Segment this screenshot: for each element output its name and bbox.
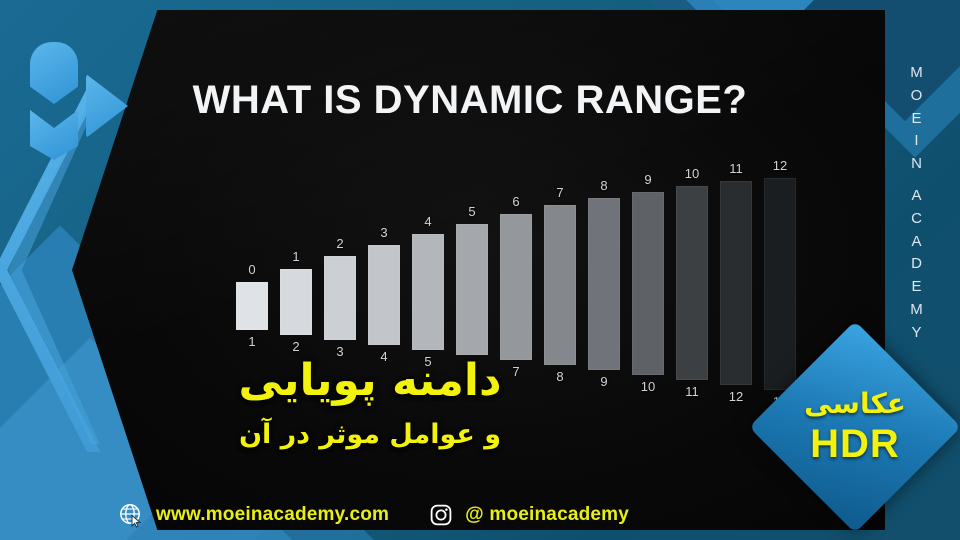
wedge-bar: [236, 282, 268, 330]
moein-academy-logo[interactable]: [22, 38, 132, 148]
wedge-bar: [368, 245, 400, 345]
wedge-bottom-label: 12: [720, 389, 752, 404]
wedge-top-label: 7: [544, 185, 576, 200]
brand-letter: O: [911, 85, 924, 108]
website-url[interactable]: www.moeinacademy.com: [156, 504, 389, 526]
wedge-step: 78: [544, 205, 576, 365]
instagram-handle[interactable]: @ moeinacademy: [465, 504, 629, 526]
wedge-bar: [456, 224, 488, 355]
badge-label-farsi: عکاسی: [804, 387, 906, 420]
wedge-step: 23: [324, 256, 356, 340]
wedge-bottom-label: 11: [676, 384, 708, 399]
wedge-bar: [280, 269, 312, 335]
page-title: WHAT IS DYNAMIC RANGE?: [120, 78, 820, 123]
brand-letter: A: [911, 231, 922, 254]
brand-letter: M: [910, 299, 924, 322]
wedge-step: 89: [588, 198, 620, 370]
wedge-top-label: 4: [412, 214, 444, 229]
wedge-bottom-label: 2: [280, 339, 312, 354]
brand-letter: I: [914, 130, 919, 153]
wedge-bar: [676, 186, 708, 380]
wedge-step: 01: [236, 282, 268, 330]
hdr-badge[interactable]: عکاسی HDR: [780, 352, 930, 502]
wedge-bottom-label: 1: [236, 334, 268, 349]
wedge-top-label: 2: [324, 236, 356, 251]
wedge-bar: [720, 181, 752, 385]
wedge-bar: [324, 256, 356, 340]
wedge-top-label: 10: [676, 166, 708, 181]
wedge-bar: [588, 198, 620, 370]
wedge-top-label: 12: [764, 158, 796, 173]
wedge-step: 56: [456, 224, 488, 355]
wedge-bottom-label: 10: [632, 379, 664, 394]
wedge-top-label: 6: [500, 194, 532, 209]
wedge-bar: [632, 192, 664, 375]
badge-text-wrap: عکاسی HDR: [780, 352, 930, 502]
wedge-step: 67: [500, 214, 532, 360]
wedge-step: 45: [412, 234, 444, 350]
brand-letter: N: [911, 153, 923, 176]
poster-canvas: WHAT IS DYNAMIC RANGE? 01122334455667788…: [0, 0, 960, 540]
brand-letter: Y: [911, 322, 922, 345]
subheadline-farsi: و عوامل موثر در آن: [170, 420, 570, 450]
logo-shape-top: [30, 42, 78, 104]
wedge-step: 12: [280, 269, 312, 335]
wedge-top-label: 8: [588, 178, 620, 193]
brand-vertical-text: MOEINACADEMY: [900, 62, 934, 345]
wedge-step: 1011: [676, 186, 708, 380]
globe-cursor-icon: [118, 502, 144, 528]
brand-letter: D: [911, 253, 923, 276]
wedge-step: 910: [632, 192, 664, 375]
brand-letter: E: [911, 276, 922, 299]
footer-bar: www.moeinacademy.com @ moeinacademy: [118, 502, 629, 528]
brand-letter: C: [911, 208, 923, 231]
instagram-icon[interactable]: [429, 503, 453, 527]
wedge-top-label: 3: [368, 225, 400, 240]
wedge-top-label: 11: [720, 161, 752, 176]
wedge-step: 34: [368, 245, 400, 345]
wedge-top-label: 1: [280, 249, 312, 264]
brand-letter: A: [911, 185, 922, 208]
wedge-step: 1112: [720, 181, 752, 385]
badge-label-hdr: HDR: [810, 422, 900, 467]
wedge-bar: [544, 205, 576, 365]
brand-letter: M: [910, 62, 924, 85]
wedge-top-label: 5: [456, 204, 488, 219]
wedge-bar: [500, 214, 532, 360]
wedge-bottom-label: 9: [588, 374, 620, 389]
wedge-top-label: 9: [632, 172, 664, 187]
headline-farsi: دامنه پویایی: [170, 358, 570, 404]
brand-letter: E: [911, 108, 922, 131]
wedge-top-label: 0: [236, 262, 268, 277]
wedge-bar: [412, 234, 444, 350]
